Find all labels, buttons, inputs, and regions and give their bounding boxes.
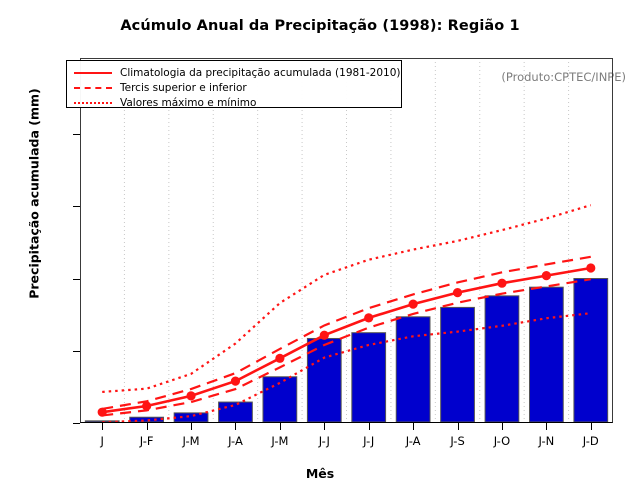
x-tick-mark <box>591 423 592 430</box>
x-tick-mark <box>502 423 503 430</box>
data-point-marker <box>320 331 329 340</box>
x-tick-mark <box>235 423 236 430</box>
data-point-marker <box>409 300 418 309</box>
x-tick-mark <box>369 423 370 430</box>
data-point-marker <box>231 376 240 385</box>
legend-dashed-line-icon <box>73 82 113 94</box>
y-tick-mark <box>73 134 80 135</box>
data-point-marker <box>453 288 462 297</box>
legend-label: Tercis superior e inferior <box>120 82 247 94</box>
x-tick-mark <box>413 423 414 430</box>
x-tick-label: J-D <box>561 434 621 448</box>
x-tick-mark <box>102 423 103 430</box>
chart-title: Acúmulo Anual da Precipitação (1998): Re… <box>0 18 640 34</box>
chart-legend: Climatologia da precipitação acumulada (… <box>66 60 402 108</box>
data-point-marker <box>186 391 195 400</box>
x-axis-label: Mês <box>0 466 640 481</box>
y-tick-mark <box>73 351 80 352</box>
data-point-marker <box>364 313 373 322</box>
legend-label: Climatologia da precipitação acumulada (… <box>120 67 400 79</box>
data-point-marker <box>275 354 284 363</box>
data-point-marker <box>586 263 595 272</box>
legend-dotted-line-icon <box>73 97 113 109</box>
precipitation-chart-figure: Acúmulo Anual da Precipitação (1998): Re… <box>0 0 640 500</box>
legend-label: Valores máximo e mínimo <box>120 97 256 109</box>
y-tick-mark <box>73 423 80 424</box>
bar <box>529 287 563 422</box>
x-tick-mark <box>546 423 547 430</box>
bar <box>485 296 519 422</box>
data-point-marker <box>497 279 506 288</box>
x-tick-mark <box>324 423 325 430</box>
bar <box>174 413 208 422</box>
data-point-marker <box>142 401 151 410</box>
x-tick-mark <box>280 423 281 430</box>
bar <box>574 279 608 423</box>
x-tick-mark <box>191 423 192 430</box>
legend-solid-line-icon <box>73 67 113 79</box>
data-point-marker <box>542 271 551 280</box>
legend-item-terciles: Tercis superior e inferior <box>73 81 395 95</box>
y-tick-mark <box>73 206 80 207</box>
data-point-marker <box>98 408 107 417</box>
plot-area <box>80 58 613 423</box>
y-axis-label: Precipitação acumulada (mm) <box>27 54 42 334</box>
bar <box>441 307 475 422</box>
y-tick-mark <box>73 279 80 280</box>
legend-item-extremes: Valores máximo e mínimo <box>73 96 395 110</box>
chart-canvas <box>80 58 613 423</box>
bar <box>219 402 253 422</box>
legend-item-climatology: Climatologia da precipitação acumulada (… <box>73 66 395 80</box>
x-tick-mark <box>458 423 459 430</box>
x-tick-mark <box>147 423 148 430</box>
bar <box>396 317 430 422</box>
